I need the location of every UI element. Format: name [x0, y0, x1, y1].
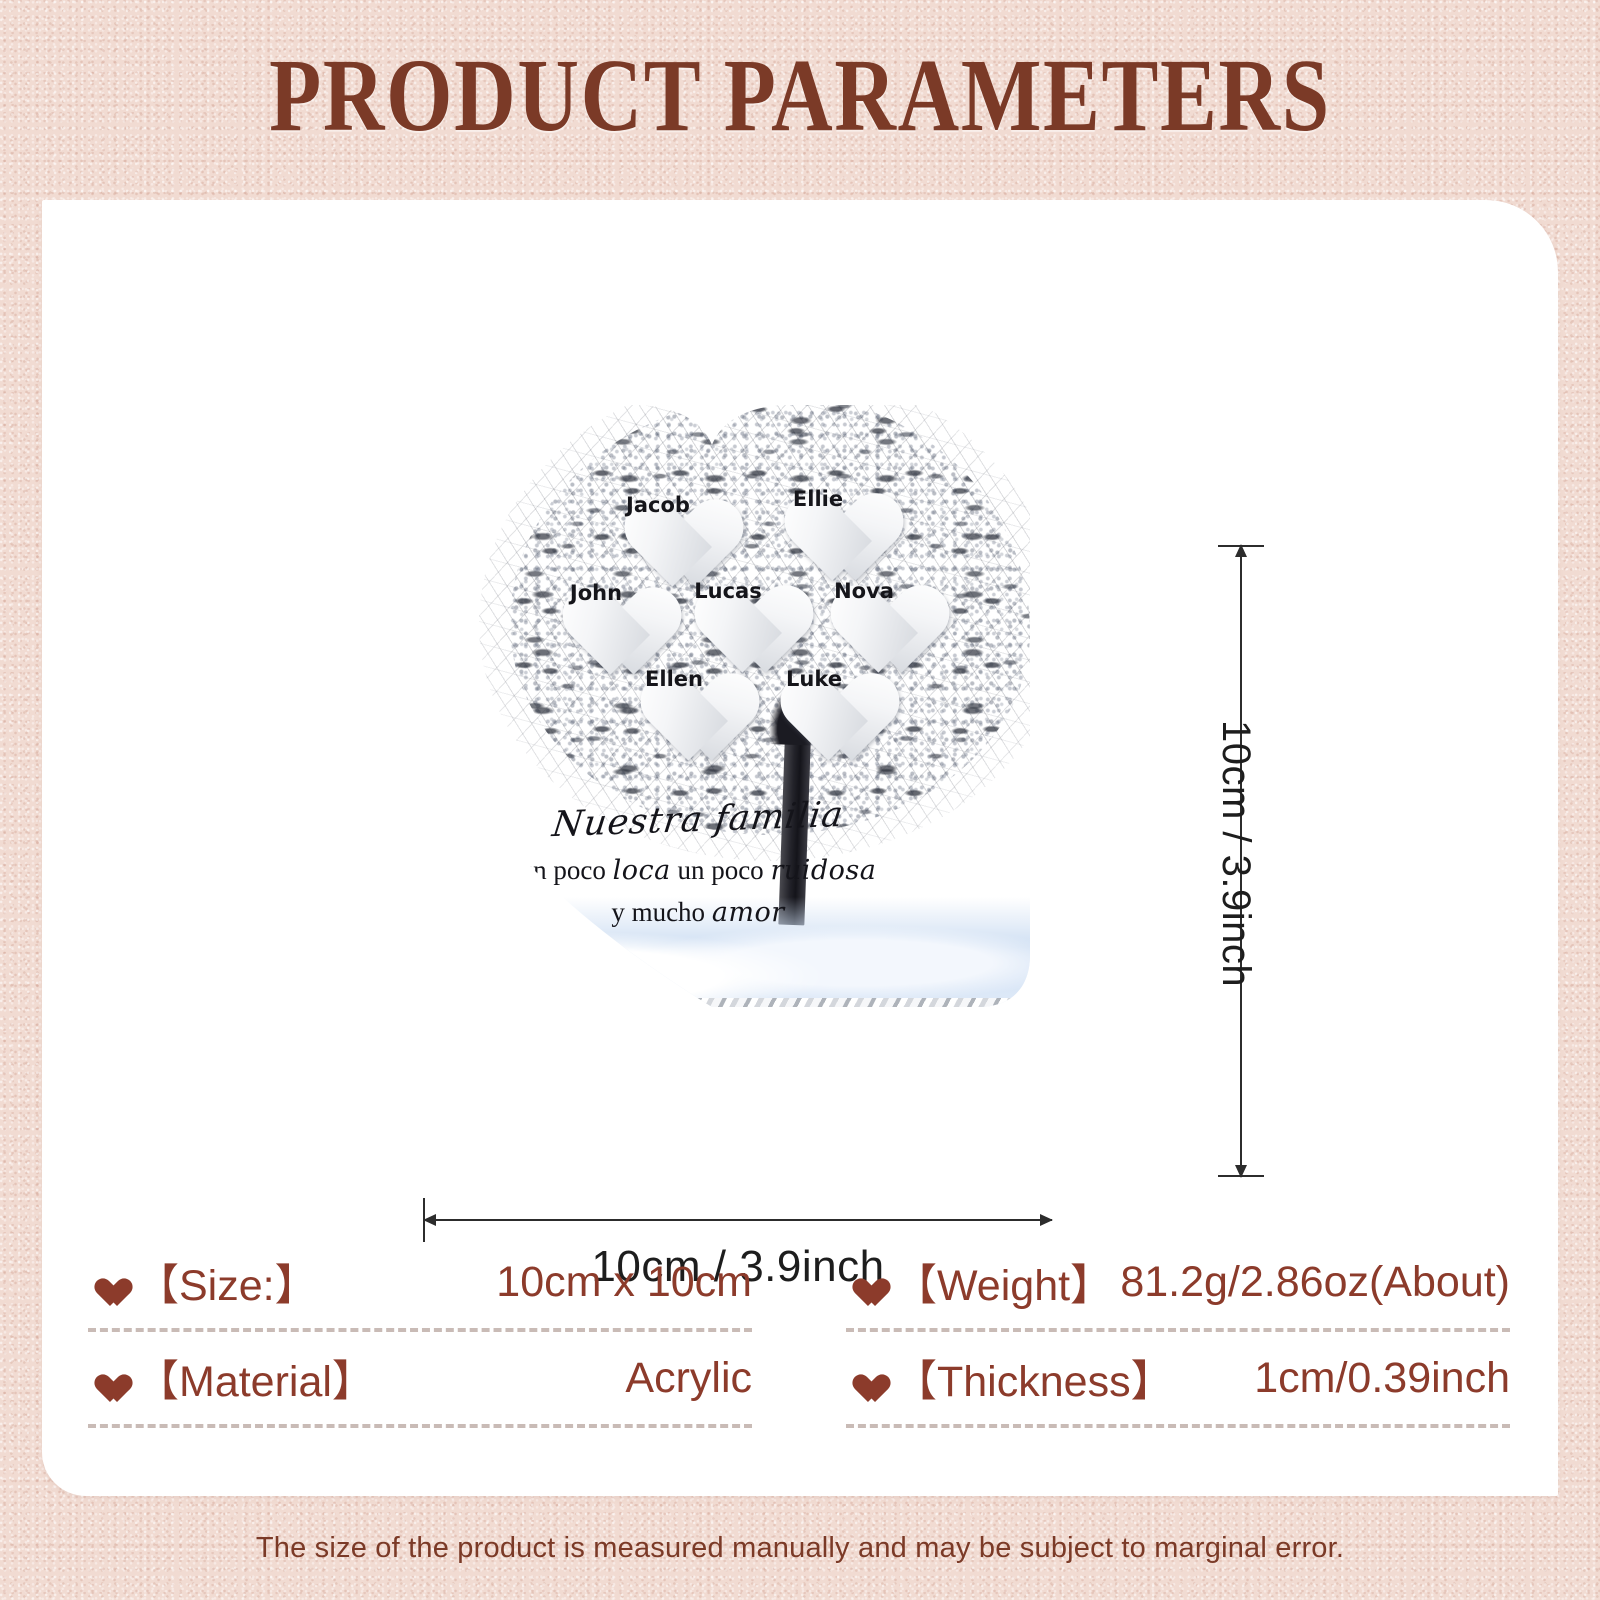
name-heart: Ellie	[764, 451, 872, 543]
name-heart: Jacob	[604, 457, 712, 549]
quote-line-2: un poco loca un poco ruidosa	[488, 850, 908, 892]
name-heart-label: John	[570, 581, 622, 605]
spec-label: 【Thickness】	[894, 1347, 1174, 1409]
quote-text-script: loca	[613, 855, 671, 886]
quote-line-3: y mucho amor	[488, 892, 908, 934]
page-title: PRODUCT PARAMETERS	[144, 44, 1456, 148]
name-heart-label: Ellen	[645, 667, 703, 691]
spec-label: 【Material】	[136, 1347, 375, 1409]
quote-text: un poco	[671, 855, 771, 885]
quote-text: y mucho	[611, 897, 712, 927]
heart-bullet-icon	[846, 1267, 880, 1297]
spec-value: 1cm/0.39inch	[1254, 1354, 1510, 1403]
spec-cell-weight: 【Weight】 81.2g/2.86oz(About)	[800, 1236, 1558, 1328]
quote-text-script: amor	[712, 897, 785, 928]
acrylic-heart-plaque: Jacob Ellie John Lucas Nova	[382, 335, 1042, 1007]
name-heart: Ellen	[620, 631, 728, 723]
heart-bullet-icon	[88, 1363, 122, 1393]
name-heart-label: Luke	[786, 667, 842, 691]
height-dimension-label: 10cm / 3.9inch	[1213, 720, 1258, 987]
dashed-line	[88, 1424, 752, 1428]
quote-text: un poco	[520, 855, 613, 885]
name-heart: John	[542, 545, 650, 637]
spec-row: 【Size:】 10cm x 10cm 【Weight】 81.2g/2.86o…	[42, 1236, 1558, 1328]
heart-bullet-icon	[88, 1267, 122, 1297]
name-heart: Lucas	[674, 543, 782, 635]
spec-divider	[42, 1424, 1558, 1428]
plaque-artwork: Jacob Ellie John Lucas Nova	[382, 335, 1042, 1007]
width-dimension-arrow	[424, 1219, 1052, 1221]
spec-label: 【Weight】	[894, 1251, 1113, 1313]
spec-label: 【Size:】	[136, 1251, 318, 1313]
quote-line-1: Nuestra familia	[486, 793, 911, 848]
spec-cell-material: 【Material】 Acrylic	[42, 1332, 800, 1424]
product-image: Jacob Ellie John Lucas Nova	[372, 330, 1132, 1050]
footer-note: The size of the product is measured manu…	[256, 1532, 1344, 1565]
spec-row: 【Material】 Acrylic 【Thickness】 1cm/0.39i…	[42, 1332, 1558, 1424]
specifications-table: 【Size:】 10cm x 10cm 【Weight】 81.2g/2.86o…	[42, 1236, 1558, 1428]
spec-value: 10cm x 10cm	[496, 1258, 752, 1307]
heart-bullet-icon	[846, 1363, 880, 1393]
spec-cell-size: 【Size:】 10cm x 10cm	[42, 1236, 800, 1328]
name-heart-label: Lucas	[694, 579, 761, 603]
dashed-line	[846, 1424, 1510, 1428]
name-heart-label: Jacob	[626, 493, 690, 517]
spec-cell-thickness: 【Thickness】 1cm/0.39inch	[800, 1332, 1558, 1424]
spec-value: 81.2g/2.86oz(About)	[1120, 1258, 1510, 1307]
name-heart: Nova	[810, 543, 918, 635]
spec-value: Acrylic	[625, 1354, 752, 1403]
name-heart: Luke	[760, 631, 868, 723]
quote-text-script: ruidosa	[770, 855, 876, 886]
footer-band: The size of the product is measured manu…	[0, 1496, 1600, 1600]
engraved-quote: Nuestra familia un poco loca un poco rui…	[488, 800, 908, 933]
name-heart-label: Ellie	[793, 487, 843, 511]
name-heart-label: Nova	[834, 579, 894, 603]
